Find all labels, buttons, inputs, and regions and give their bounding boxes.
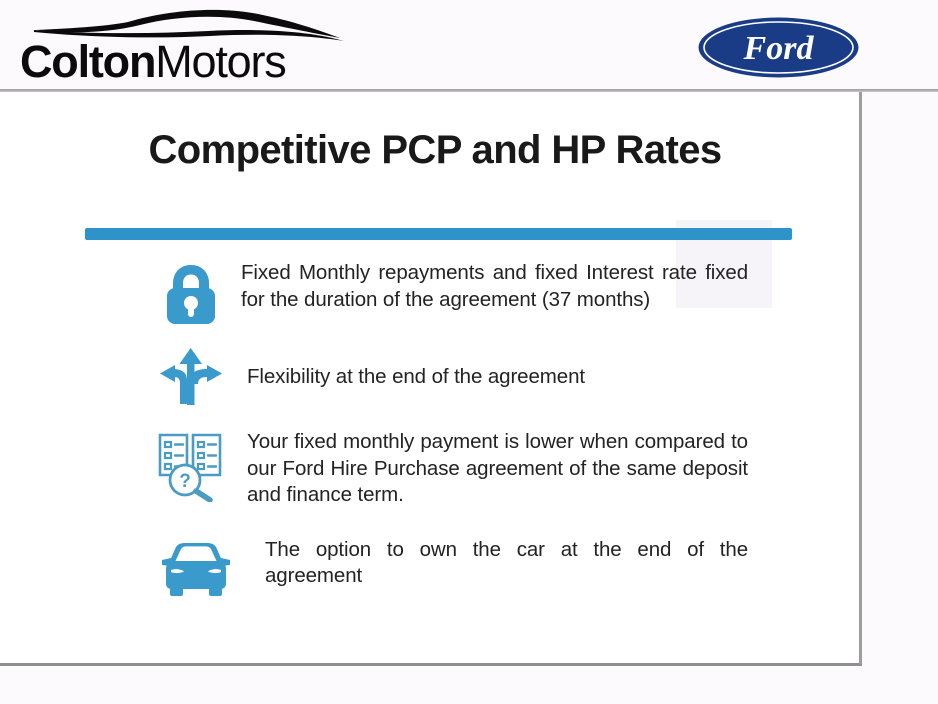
list-item: Fixed Monthly repayments and fixed Inter… xyxy=(148,260,748,325)
padlock-icon xyxy=(148,260,234,325)
page-title: Competitive PCP and HP Rates xyxy=(85,125,785,176)
feature-list: Fixed Monthly repayments and fixed Inter… xyxy=(0,260,862,597)
title-divider-bar xyxy=(85,228,792,240)
dealer-name-bold: Colton xyxy=(20,36,155,87)
page-header: ColtonMotors Ford xyxy=(0,0,938,92)
list-item: ? Your fixed monthly payment is lower wh… xyxy=(148,429,748,509)
list-item-text: The option to own the car at the end of … xyxy=(243,537,748,590)
list-item-text: Your fixed monthly payment is lower when… xyxy=(234,429,748,509)
ford-wordmark: Ford xyxy=(743,30,815,67)
ford-oval-logo: Ford xyxy=(697,16,860,79)
dealer-name: ColtonMotors xyxy=(20,37,350,87)
list-item-text: Fixed Monthly repayments and fixed Inter… xyxy=(234,260,748,313)
car-front-icon xyxy=(148,537,243,597)
dealer-logo: ColtonMotors xyxy=(18,4,348,88)
documents-magnifier-question-icon: ? xyxy=(148,429,234,502)
slide-card: Competitive PCP and HP Rates Fixed Month… xyxy=(0,92,862,666)
list-item: Flexibility at the end of the agreement xyxy=(148,347,748,407)
svg-text:?: ? xyxy=(179,471,191,492)
list-item: The option to own the car at the end of … xyxy=(148,537,748,597)
three-way-arrows-icon xyxy=(148,347,234,407)
dealer-name-light: Motors xyxy=(155,36,285,87)
list-item-text: Flexibility at the end of the agreement xyxy=(234,364,748,391)
